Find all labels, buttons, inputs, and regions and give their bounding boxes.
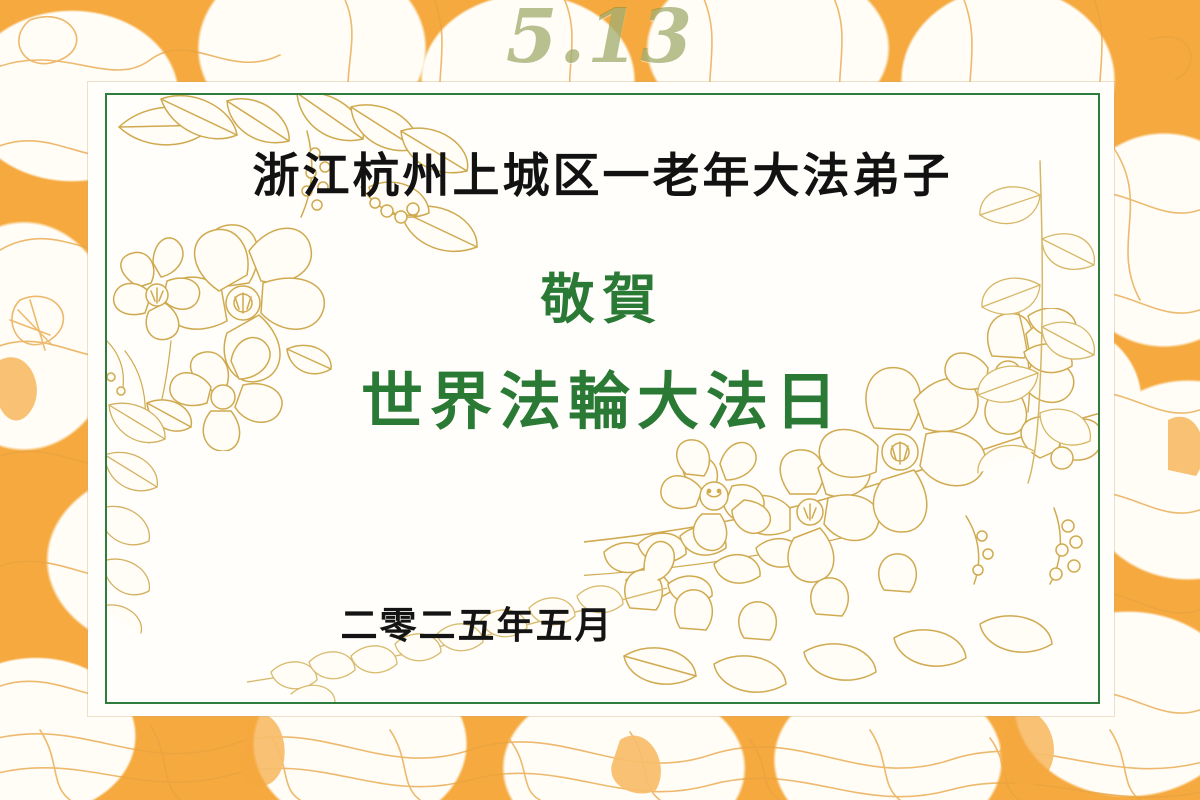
sender-title: 浙江杭州上城区一老年大法弟子 (107, 137, 1098, 206)
card-text-content: 浙江杭州上城区一老年大法弟子 敬賀 世界法輪大法日 二零二五年五月 (107, 95, 1098, 702)
date-text: 二零二五年五月 (107, 595, 847, 649)
date-watermark: 5.13 (0, 0, 1200, 80)
greeting-card-image: 5.13 (0, 0, 1200, 800)
headline-text: 世界法輪大法日 (107, 351, 1098, 441)
greeting-text: 敬賀 (107, 255, 1098, 334)
